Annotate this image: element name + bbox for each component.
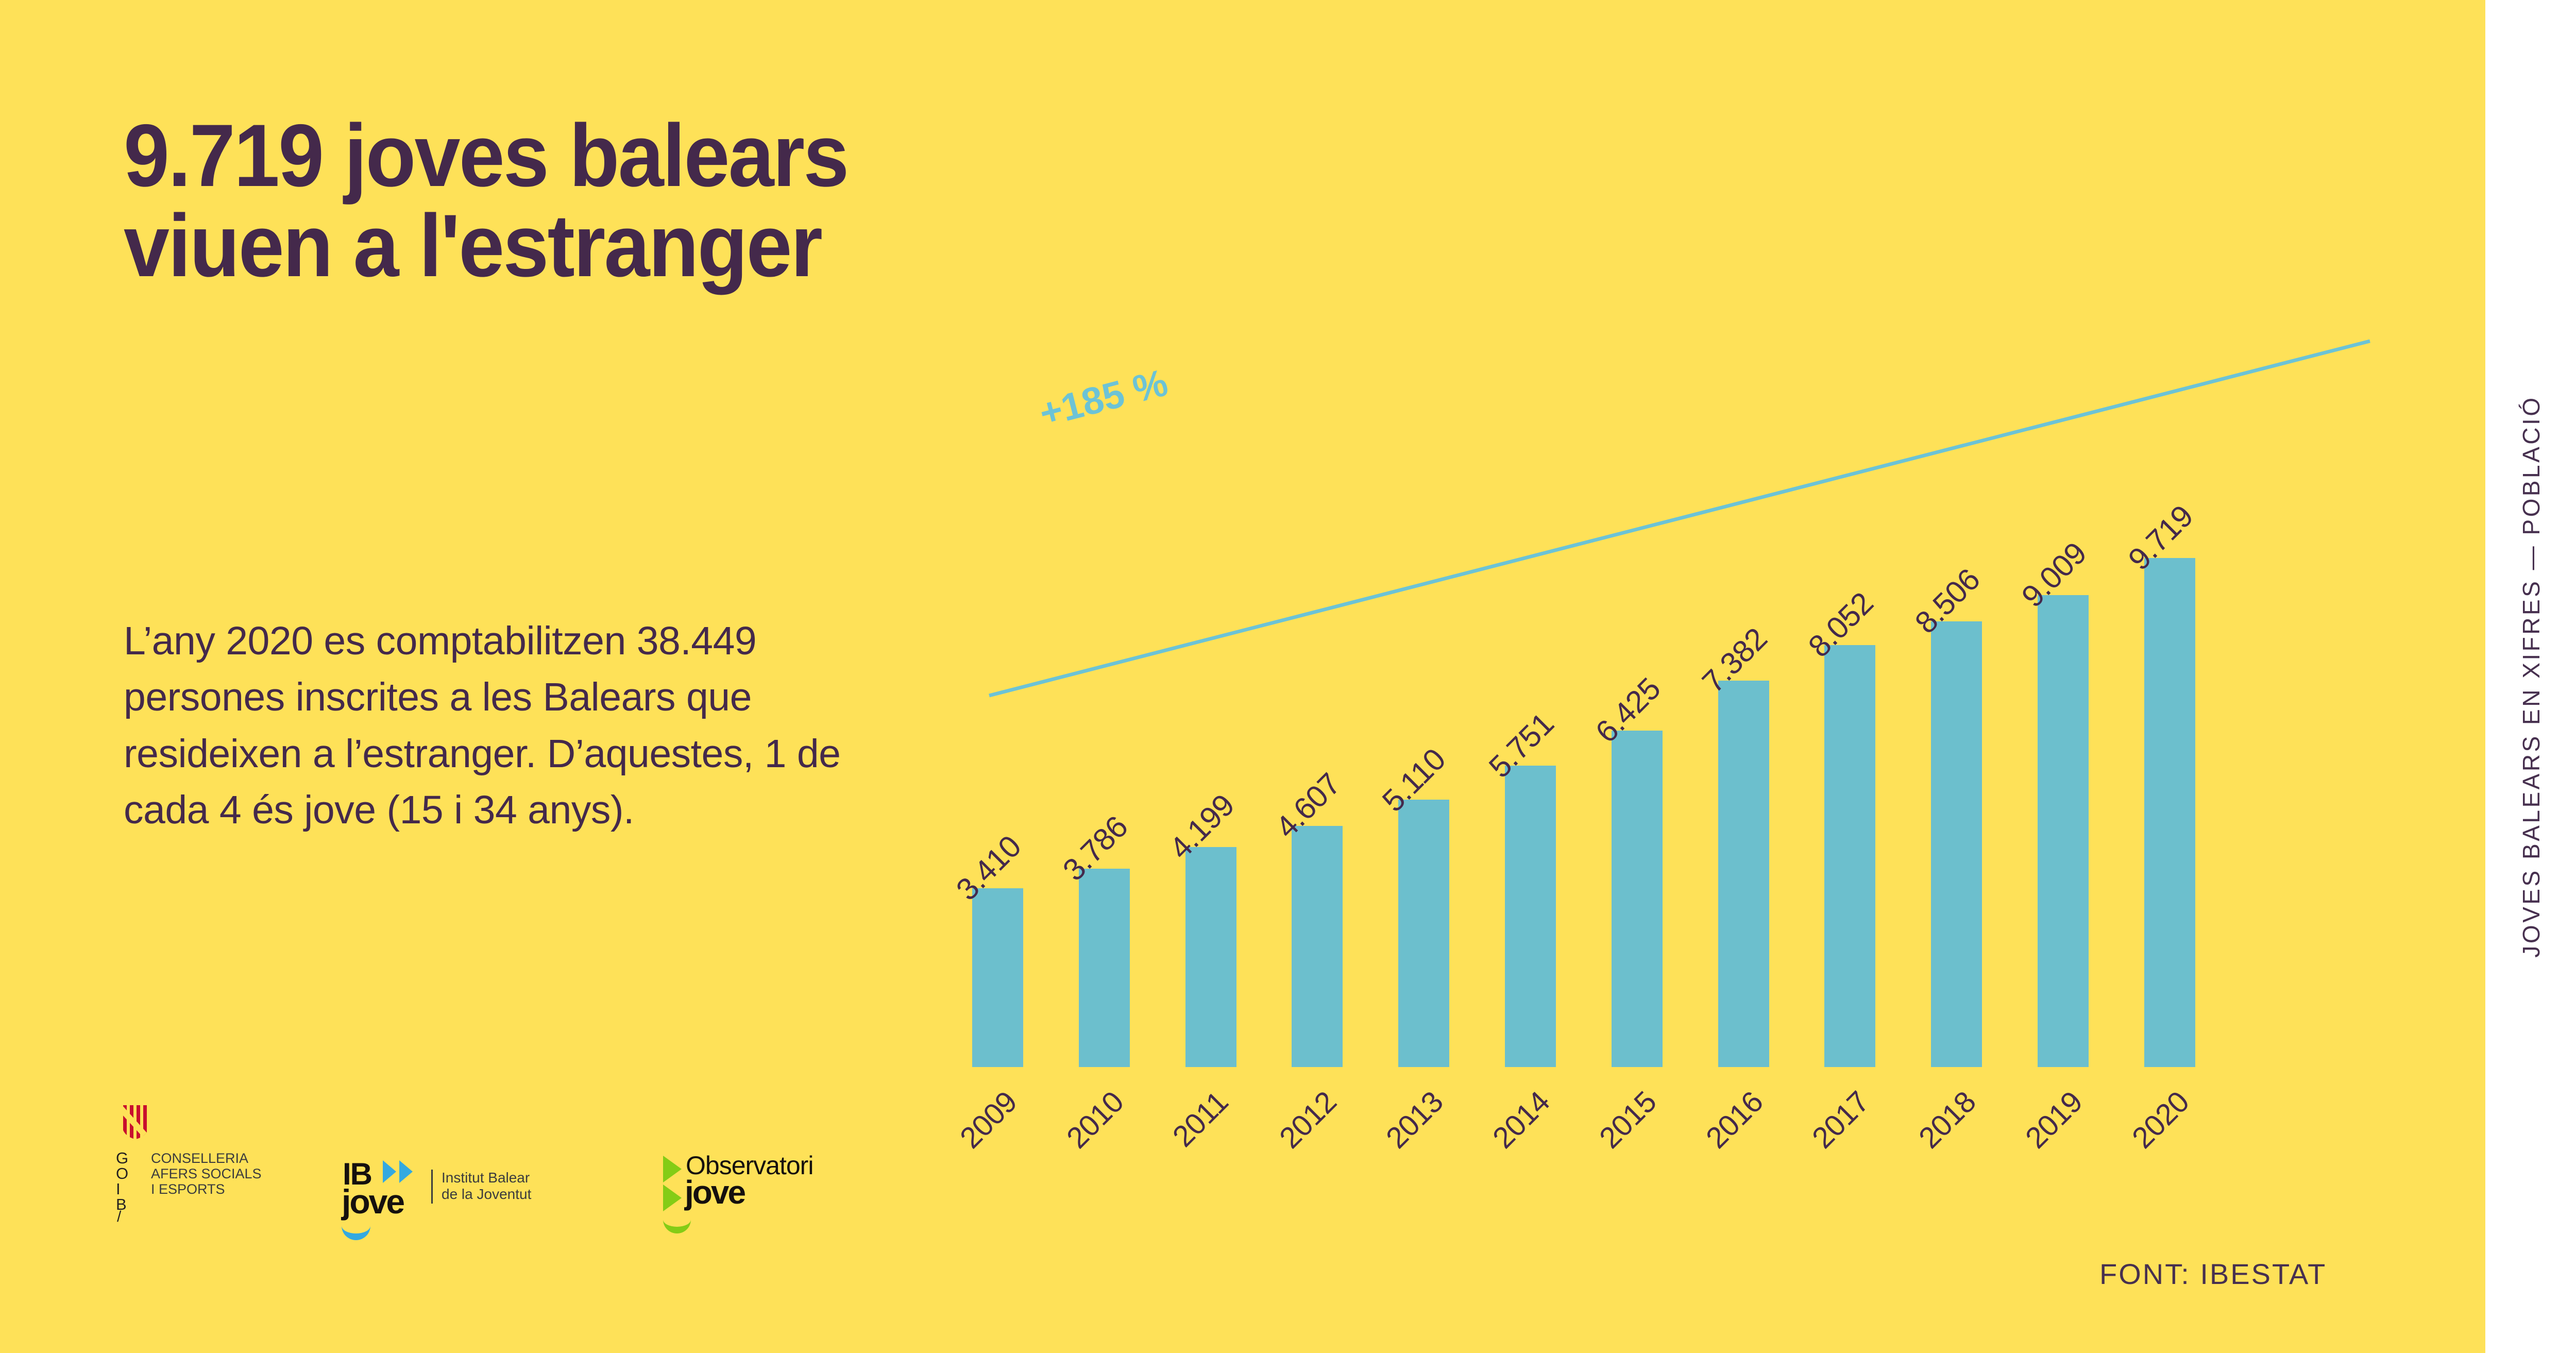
- goib-department: CONSELLERIA AFERS SOCIALS I ESPORTS: [151, 1151, 262, 1197]
- goib-letter-i: I: [116, 1181, 128, 1197]
- side-rail-label: JOVES BALEARS EN XIFRES — POBLACIÓ: [2517, 395, 2545, 957]
- goib-department-line-1: CONSELLERIA: [151, 1151, 262, 1166]
- play-triangle-icon-1: [383, 1160, 396, 1183]
- play-triangle-icon-4: [663, 1185, 682, 1211]
- play-triangle-icon-2: [399, 1160, 413, 1183]
- page-title-line-1: 9.719 joves balears: [124, 111, 1274, 201]
- ib-jove-subtitle: Institut Balear de la Joventut: [442, 1170, 531, 1203]
- ib-jove-subtitle-line-1: Institut Balear: [442, 1170, 531, 1186]
- page-title-line-2: viuen a l'estranger: [124, 201, 1274, 291]
- goib-letter-g: G: [116, 1151, 128, 1166]
- goib-department-line-2: AFERS SOCIALS: [151, 1166, 262, 1181]
- ib-jove-divider: [431, 1170, 433, 1204]
- goib-department-line-3: I ESPORTS: [151, 1181, 262, 1197]
- ib-jove-wordmark: jove: [342, 1182, 403, 1221]
- observatori-jove-wordmark: jove: [685, 1173, 744, 1211]
- body-paragraph: L’any 2020 es comptabilitzen 38.449 pers…: [124, 613, 876, 838]
- play-triangle-icon-3: [663, 1156, 682, 1182]
- infographic-poster: 9.719 joves balears viuen a l'estranger …: [0, 0, 2576, 1353]
- goib-letter-o: O: [116, 1166, 128, 1181]
- balearic-crest-icon: [122, 1105, 149, 1139]
- page-title: 9.719 joves balears viuen a l'estranger: [124, 111, 1274, 292]
- goib-initials: G O I B: [116, 1151, 128, 1212]
- ib-jove-subtitle-line-2: de la Joventut: [442, 1186, 531, 1203]
- side-rail: JOVES BALEARS EN XIFRES — POBLACIÓ: [2485, 0, 2576, 1353]
- source-note: FONT: IBESTAT: [2099, 1257, 2327, 1291]
- goib-slash-mark: /: [117, 1208, 121, 1226]
